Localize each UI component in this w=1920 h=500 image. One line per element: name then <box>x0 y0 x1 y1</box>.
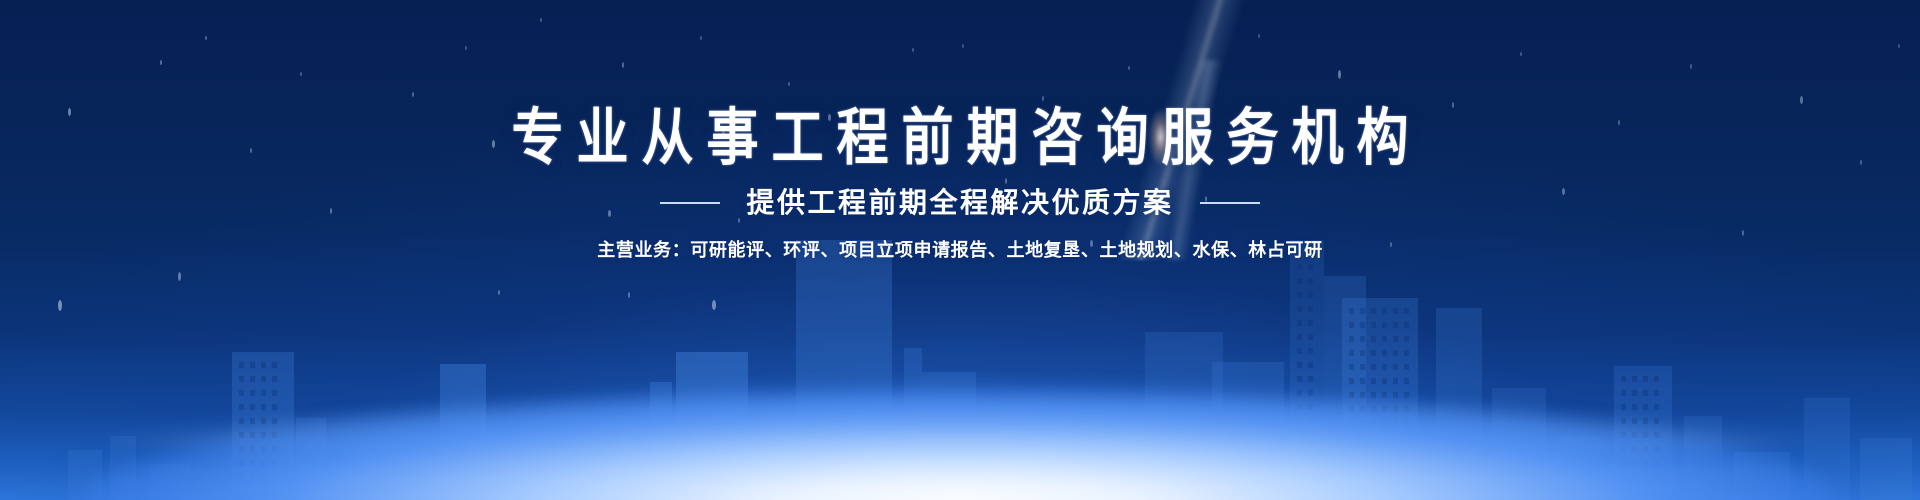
business-scope-text: 主营业务：可研能评、环评、项目立项申请报告、土地复垦、土地规划、水保、林占可研 <box>597 240 1322 260</box>
page-title: 专业从事工程前期咨询服务机构 <box>498 108 1421 169</box>
banner-content: 专业从事工程前期咨询服务机构 提供工程前期全程解决优质方案 主营业务：可研能评、… <box>0 0 1920 500</box>
dash-left-icon <box>660 202 720 204</box>
hero-banner: 专业从事工程前期咨询服务机构 提供工程前期全程解决优质方案 主营业务：可研能评、… <box>0 0 1920 500</box>
page-subtitle: 提供工程前期全程解决优质方案 <box>746 188 1173 218</box>
dash-right-icon <box>1200 202 1260 204</box>
subtitle-row: 提供工程前期全程解决优质方案 <box>660 188 1259 218</box>
